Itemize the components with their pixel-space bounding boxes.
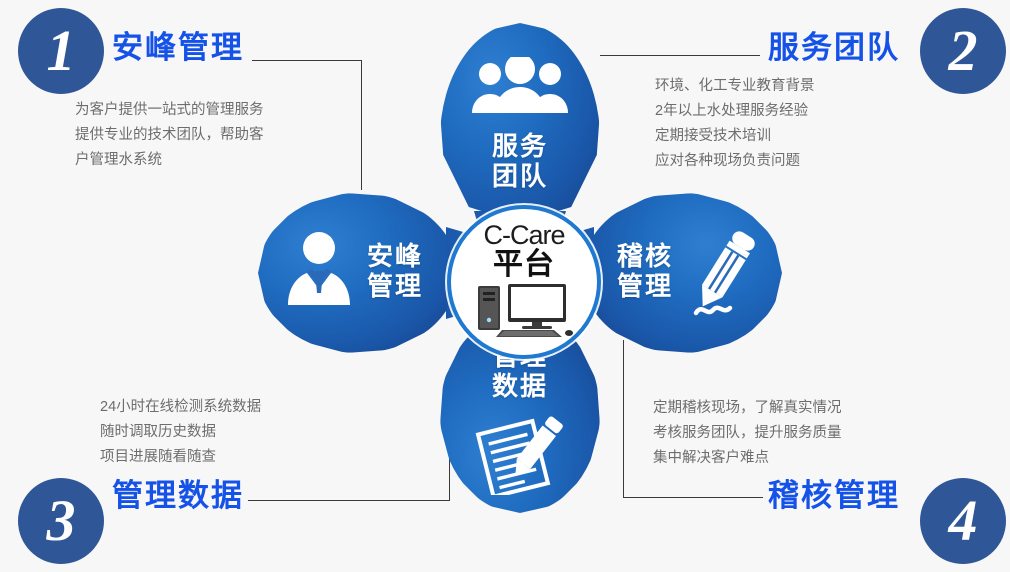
quadrant-body-line: 随时调取历史数据: [100, 420, 261, 445]
desktop-computer-icon: [472, 282, 576, 343]
businessman-icon: [284, 231, 354, 310]
hub-brand-cn-text: 平台: [493, 250, 555, 280]
flower-diagram: 服务 团队 安峰 管理: [250, 8, 790, 528]
hub-brand-text: C-Care: [483, 222, 564, 249]
quadrant-body-line: 为客户提供一站式的管理服务: [75, 98, 264, 123]
quadrant-body-3: 24小时在线检测系统数据 随时调取历史数据 项目进展随看随查: [100, 395, 261, 470]
pencil-signature-icon: [686, 223, 766, 332]
quadrant-body-line: 提供专业的技术团队，帮助客: [75, 123, 264, 148]
petal-audit-management[interactable]: 稽核 管理: [582, 193, 782, 353]
petal-anfeng-management[interactable]: 安峰 管理: [258, 193, 458, 353]
step-number-badge-3: 3: [18, 478, 104, 564]
quadrant-body-line: 24小时在线检测系统数据: [100, 395, 261, 420]
quadrant-body-line: 项目进展随看随查: [100, 445, 261, 470]
quadrant-body-1: 为客户提供一站式的管理服务 提供专业的技术团队，帮助客 户管理水系统: [75, 98, 264, 173]
petal-shape-top: [440, 23, 600, 223]
petal-label-audit-management: 稽核 管理: [600, 241, 690, 301]
center-hub[interactable]: C-Care 平台: [447, 205, 601, 359]
petal-label-anfeng-management: 安峰 管理: [350, 241, 440, 301]
infographic-canvas: 1 2 3 4 安峰管理 服务团队 管理数据 稽核管理 为客户提供一站式的管理服…: [0, 0, 1010, 572]
quadrant-title-3: 管理数据: [112, 470, 244, 515]
petal-service-team[interactable]: 服务 团队: [440, 23, 600, 223]
step-number-badge-2: 2: [920, 8, 1006, 94]
people-group-icon: [468, 57, 572, 118]
quadrant-body-line: 户管理水系统: [75, 148, 264, 173]
document-pen-icon: [474, 413, 566, 500]
quadrant-title-1: 安峰管理: [112, 22, 244, 67]
step-number-badge-4: 4: [920, 478, 1006, 564]
petal-label-service-team: 服务 团队: [440, 131, 600, 191]
step-number-badge-1: 1: [18, 8, 104, 94]
